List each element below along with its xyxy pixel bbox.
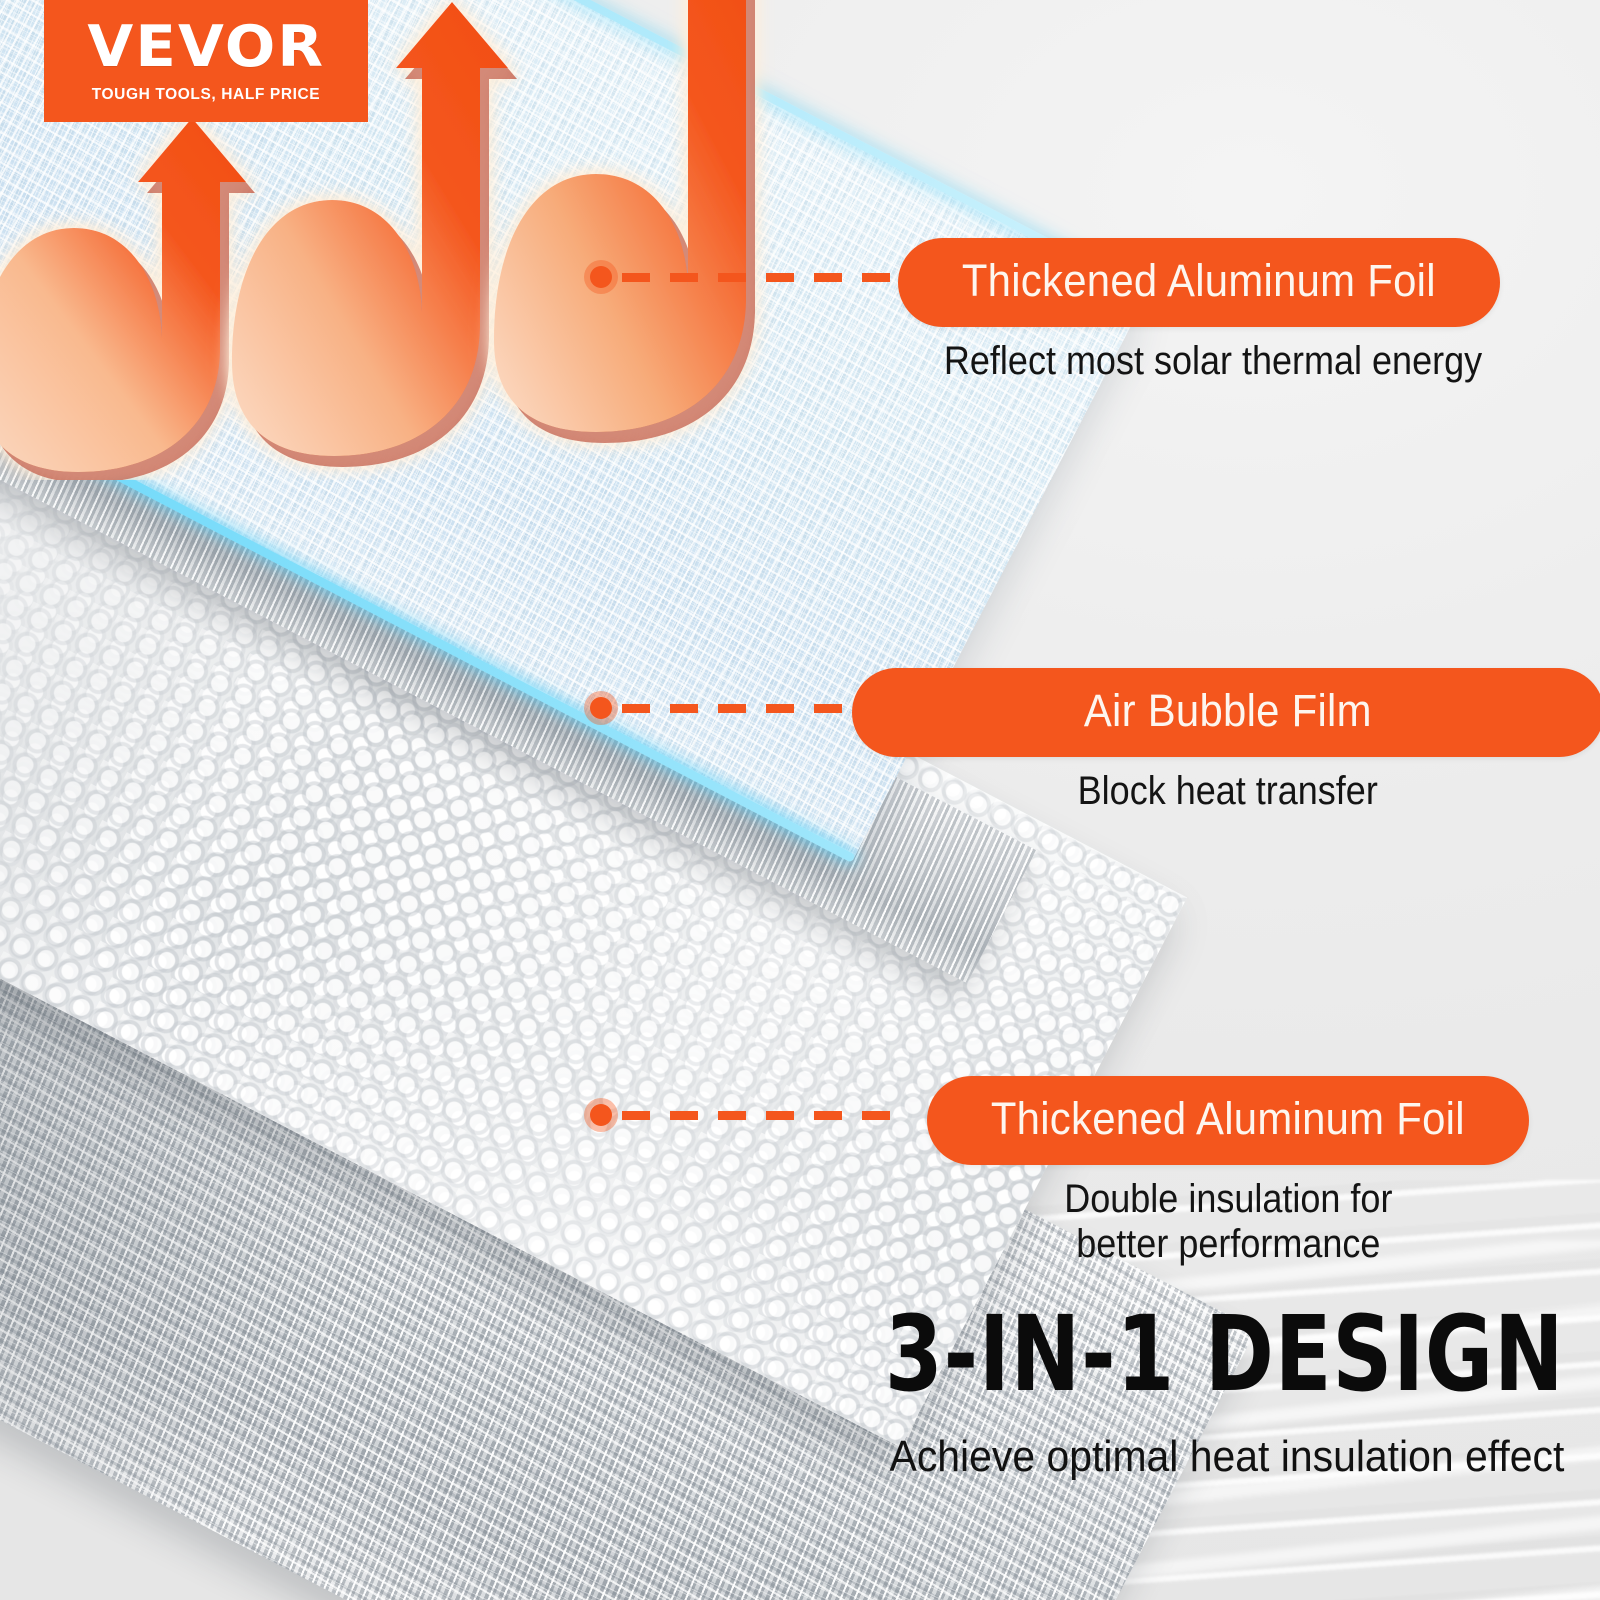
brand-name: VEVOR	[87, 19, 325, 76]
connector-dot-icon	[584, 691, 618, 725]
connector-dashed-line	[622, 1111, 906, 1120]
callout-bubble-film: Air Bubble Film Block heat transfer	[898, 668, 1558, 814]
connector-dashed-line	[622, 273, 906, 282]
connector-dot-icon	[584, 1098, 618, 1132]
heat-arrow-3	[494, 0, 785, 443]
connector-bottom-foil	[590, 1110, 906, 1120]
headline-block: 3-IN-1 DESIGN Achieve optimal heat insul…	[715, 1302, 1564, 1482]
headline-subtitle: Achieve optimal heat insulation effect	[715, 1432, 1564, 1482]
brand-tagline: TOUGH TOOLS, HALF PRICE	[92, 86, 321, 104]
callout-subtitle-bottom-foil: Double insulation for better performance	[1046, 1177, 1411, 1267]
heat-arrow-1	[0, 118, 255, 480]
callout-subtitle-top-foil: Reflect most solar thermal energy	[914, 339, 1512, 384]
callout-title-bubble-film: Air Bubble Film	[852, 668, 1600, 757]
headline-title: 3-IN-1 DESIGN	[715, 1302, 1564, 1406]
callout-title-top-foil: Thickened Aluminum Foil	[898, 238, 1500, 327]
callout-subtitle-bubble-film: Block heat transfer	[1061, 769, 1395, 814]
vevor-logo: VEVOR TOUGH TOOLS, HALF PRICE	[44, 0, 368, 122]
connector-top-foil	[590, 272, 906, 282]
callout-bottom-foil: Thickened Aluminum Foil Double insulatio…	[898, 1076, 1558, 1267]
callout-title-bottom-foil: Thickened Aluminum Foil	[927, 1076, 1529, 1165]
product-infographic: VEVOR TOUGH TOOLS, HALF PRICE Thickened …	[0, 0, 1600, 1600]
callout-top-foil: Thickened Aluminum Foil Reflect most sol…	[898, 238, 1558, 384]
connector-dot-icon	[584, 260, 618, 294]
